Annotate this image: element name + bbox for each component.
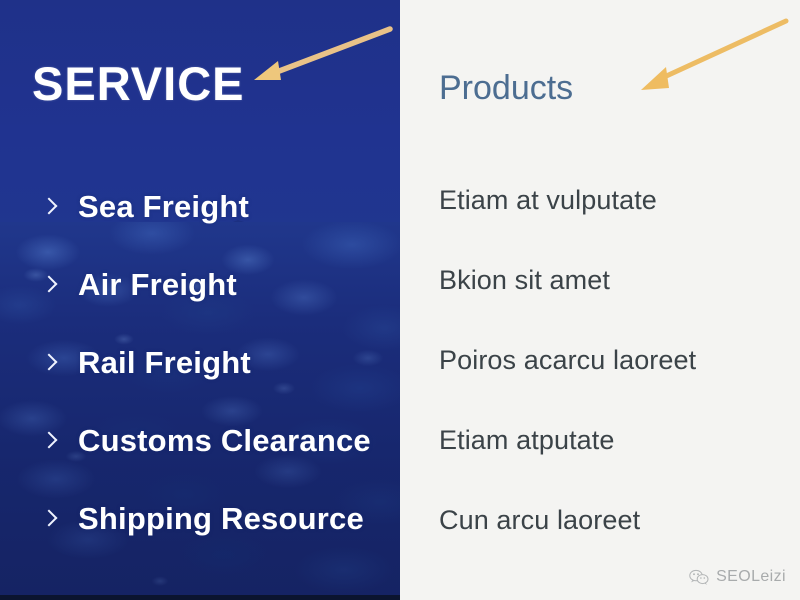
service-item-label: Air Freight [78,267,237,303]
service-item-label: Rail Freight [78,345,251,381]
service-item-sea-freight[interactable]: Sea Freight [0,168,400,246]
wechat-logo-icon [689,569,709,586]
product-item-label: Bkion sit amet [439,265,610,296]
product-item-label: Etiam at vulputate [439,185,657,216]
chevron-right-icon [42,508,56,530]
service-heading: SERVICE [32,60,245,107]
bottom-edge-strip [0,595,400,600]
service-item-air-freight[interactable]: Air Freight [0,246,400,324]
service-item-shipping-resource[interactable]: Shipping Resource [0,480,400,558]
service-panel: SERVICE Sea Freight Air Freight Rail Fre… [0,0,400,600]
chevron-right-icon [42,352,56,374]
watermark-label: SEOLeizi [716,568,786,586]
product-item-cun-arcu-laoreet[interactable]: Cun arcu laoreet [400,480,800,560]
product-item-label: Poiros acarcu laoreet [439,345,696,376]
product-item-label: Cun arcu laoreet [439,505,640,536]
watermark: SEOLeizi [689,568,786,586]
service-item-label: Sea Freight [78,189,249,225]
product-item-poiros-acarcu-laoreet[interactable]: Poiros acarcu laoreet [400,320,800,400]
chevron-right-icon [42,430,56,452]
service-item-customs-clearance[interactable]: Customs Clearance [0,402,400,480]
product-item-label: Etiam atputate [439,425,615,456]
service-item-label: Shipping Resource [78,501,364,537]
product-item-etiam-atputate[interactable]: Etiam atputate [400,400,800,480]
screenshot-root: SERVICE Sea Freight Air Freight Rail Fre… [0,0,800,600]
chevron-right-icon [42,274,56,296]
product-item-bkion-sit-amet[interactable]: Bkion sit amet [400,240,800,320]
service-item-rail-freight[interactable]: Rail Freight [0,324,400,402]
products-nav-list: Etiam at vulputate Bkion sit amet Poiros… [400,160,800,560]
products-heading: Products [439,71,573,105]
products-panel: Products Etiam at vulputate Bkion sit am… [400,0,800,600]
service-nav-list: Sea Freight Air Freight Rail Freight Cus… [0,168,400,558]
product-item-etiam-at-vulputate[interactable]: Etiam at vulputate [400,160,800,240]
service-item-label: Customs Clearance [78,423,371,459]
chevron-right-icon [42,196,56,218]
